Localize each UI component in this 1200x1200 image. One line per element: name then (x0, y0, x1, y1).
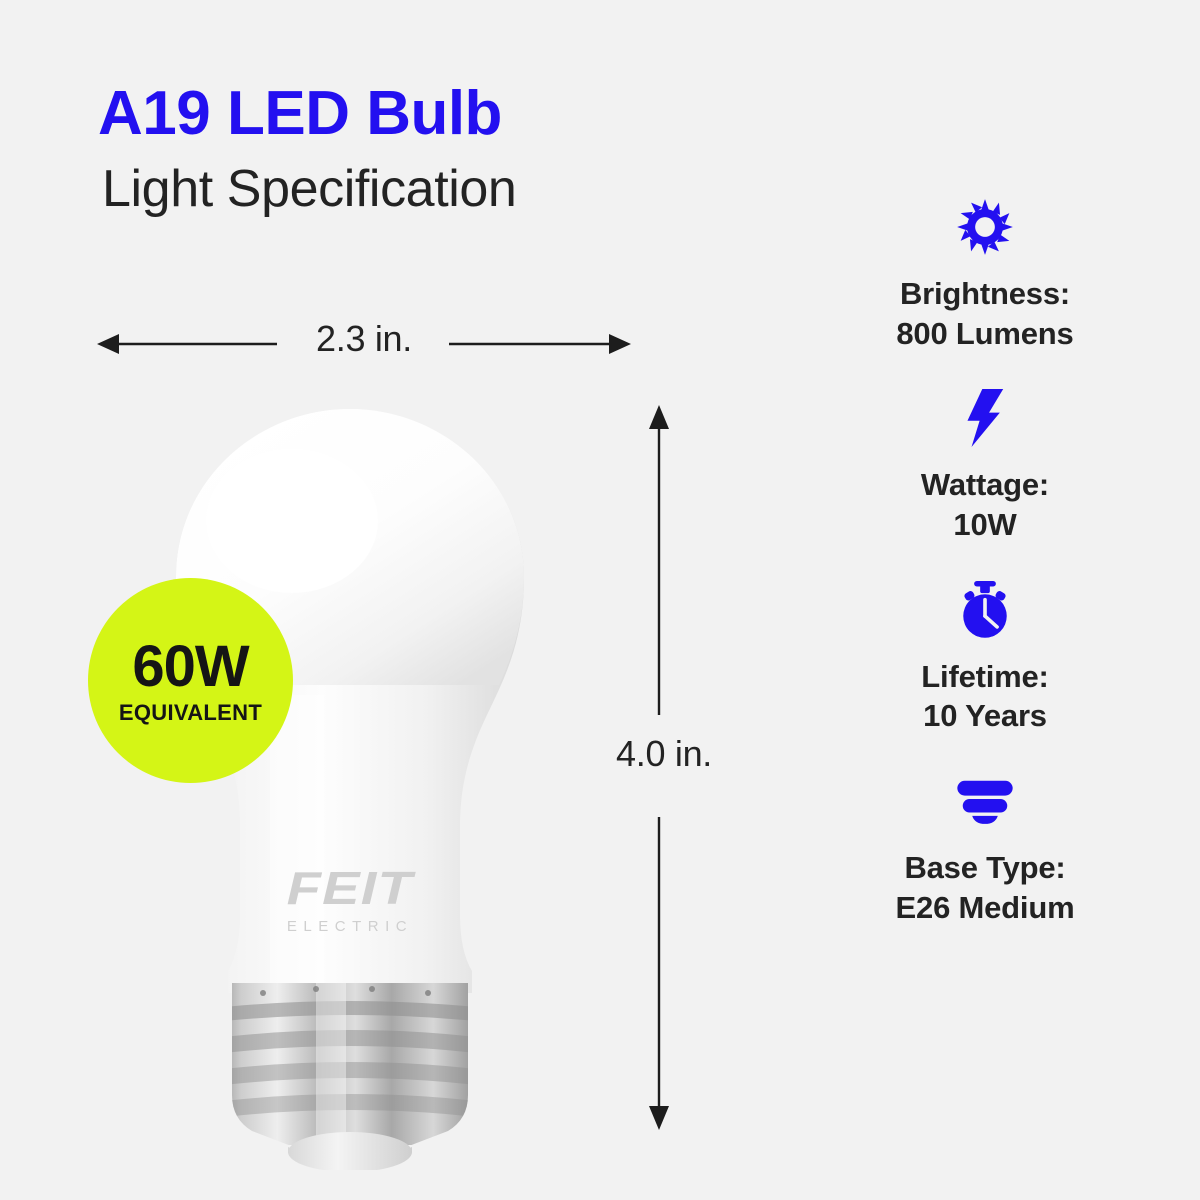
spec-brightness-label: Brightness: (820, 274, 1150, 314)
width-dimension: 2.3 in. (97, 318, 631, 370)
spec-wattage-value: 10W (820, 505, 1150, 545)
spec-item-wattage: Wattage: 10W (820, 387, 1150, 544)
bulb-base-icon (820, 770, 1150, 832)
spec-item-lifetime: Lifetime: 10 Years (820, 579, 1150, 736)
spec-base-type-value: E26 Medium (820, 888, 1150, 928)
height-dimension-label: 4.0 in. (592, 733, 712, 775)
spec-lifetime-label: Lifetime: (820, 657, 1150, 697)
spec-wattage-label: Wattage: (820, 465, 1150, 505)
width-dimension-label: 2.3 in. (97, 318, 631, 360)
spec-item-brightness: Brightness: 800 Lumens (820, 196, 1150, 353)
stopwatch-icon (820, 579, 1150, 641)
spec-base-type-label: Base Type: (820, 848, 1150, 888)
spec-brightness-text: Brightness: 800 Lumens (820, 274, 1150, 353)
page-title: A19 LED Bulb (98, 82, 738, 145)
specification-list: Brightness: 800 Lumens Wattage: 10W (820, 196, 1150, 927)
badge-value: 60W (132, 638, 248, 696)
sun-icon (820, 196, 1150, 258)
spec-wattage-text: Wattage: 10W (820, 465, 1150, 544)
header: A19 LED Bulb Light Specification (98, 82, 738, 218)
spec-brightness-value: 800 Lumens (820, 314, 1150, 354)
page-subtitle: Light Specification (102, 161, 738, 218)
lightning-bolt-icon (820, 387, 1150, 449)
spec-lifetime-text: Lifetime: 10 Years (820, 657, 1150, 736)
spec-lifetime-value: 10 Years (820, 696, 1150, 736)
spec-item-base-type: Base Type: E26 Medium (820, 770, 1150, 927)
spec-base-type-text: Base Type: E26 Medium (820, 848, 1150, 927)
badge-caption: EQUIVALENT (119, 702, 262, 724)
wattage-equivalent-badge: 60W EQUIVALENT (88, 578, 293, 783)
